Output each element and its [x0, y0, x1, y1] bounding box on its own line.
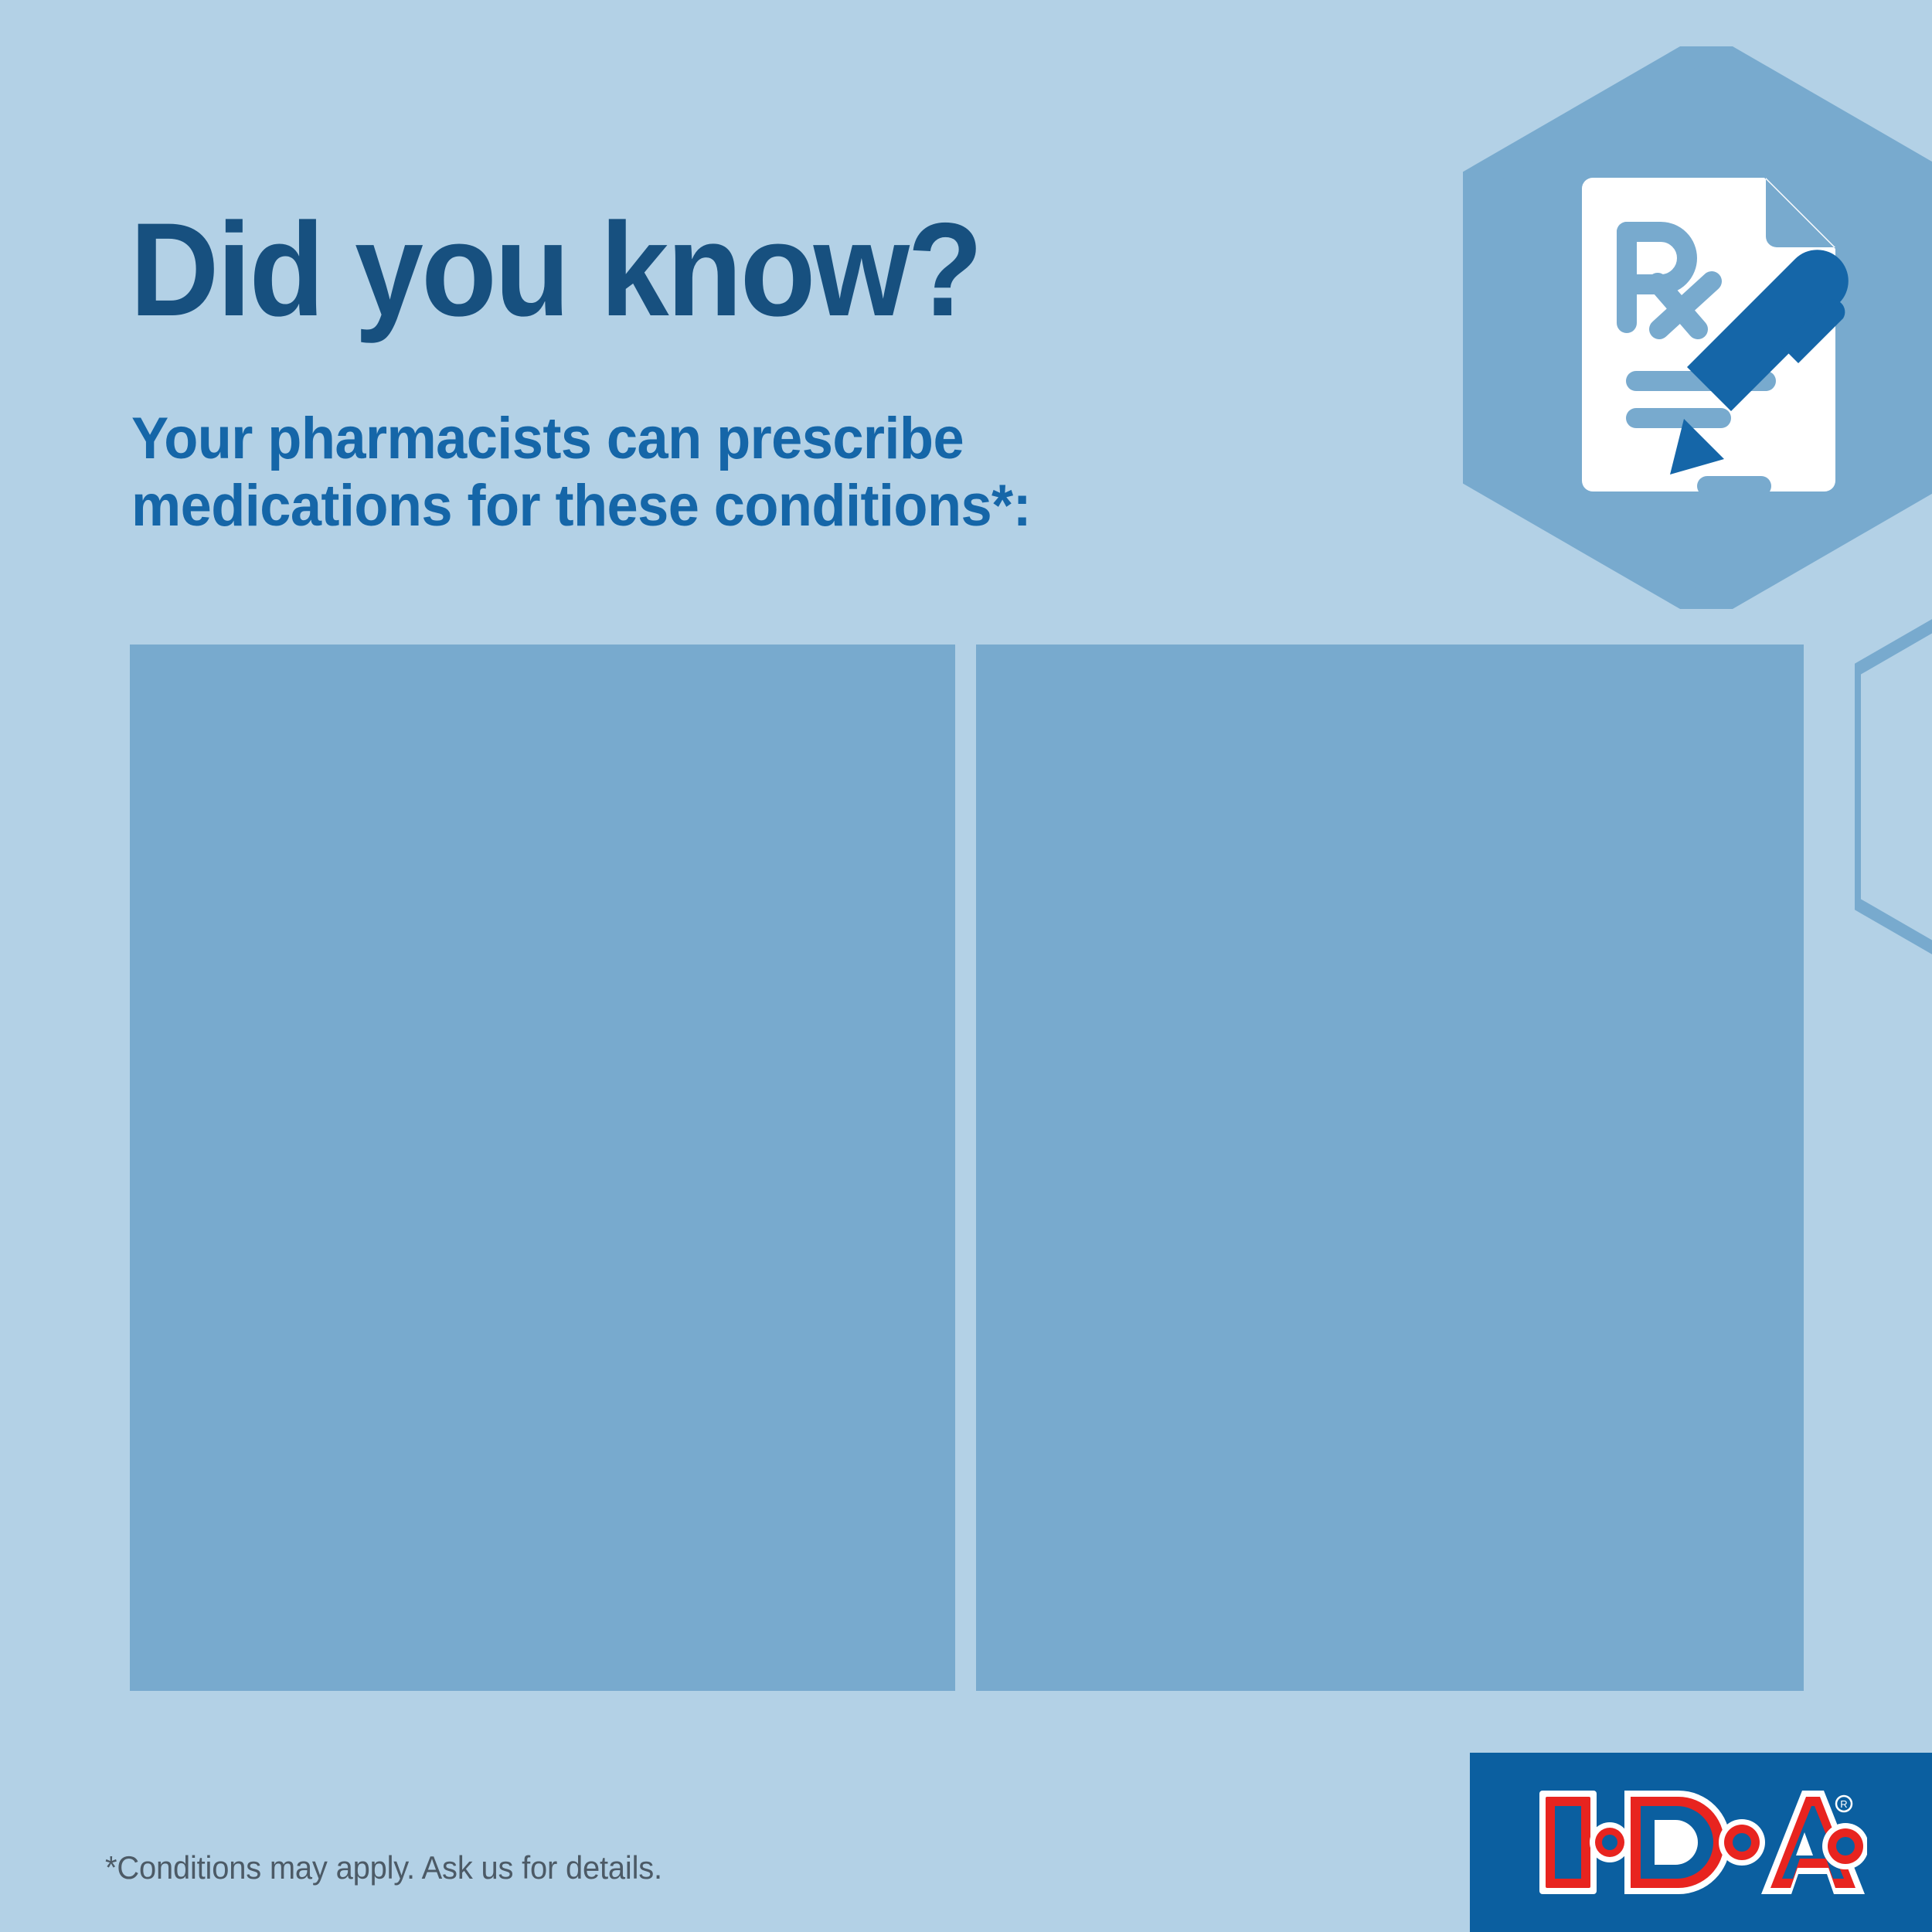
page-subtitle-line-1: Your pharmacists can prescribe [131, 406, 1031, 473]
prescription-document-pen-icon [1582, 178, 1849, 496]
conditions-panels [130, 645, 1804, 1691]
ida-pharmacy-logo: R [1535, 1784, 1867, 1900]
page-subtitle: Your pharmacists can prescribe medicatio… [131, 406, 1031, 539]
poster-canvas: Did you know? Your pharmacists can presc… [0, 0, 1932, 1932]
disclaimer-text: *Conditions may apply. Ask us for detail… [105, 1849, 662, 1886]
page-subtitle-line-2: medications for these conditions*: [131, 473, 1031, 540]
hexagon-outline-icon [1855, 555, 1932, 1019]
page-title: Did you know? [130, 203, 981, 336]
hexagon-filled-icon [1463, 46, 1932, 609]
conditions-panel-right [976, 645, 1804, 1691]
conditions-panel-left [130, 645, 955, 1691]
logo-banner: R [1470, 1753, 1932, 1932]
svg-text:R: R [1840, 1798, 1847, 1810]
